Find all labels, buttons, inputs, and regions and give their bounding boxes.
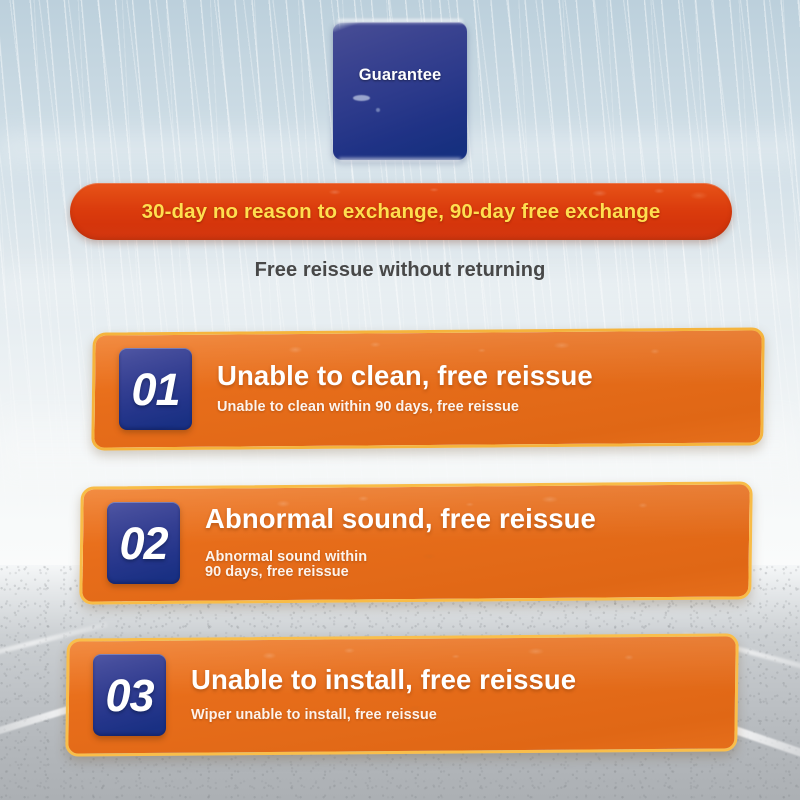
policy-banner: 30-day no reason to exchange, 90-day fre… xyxy=(70,183,732,240)
card-subtitle: Unable to clean within 90 days, free rei… xyxy=(217,400,593,415)
card-text-block: Abnormal sound, free reissue Abnormal so… xyxy=(205,505,616,581)
card-text-block: Unable to clean, free reissue Unable to … xyxy=(217,362,613,415)
card-subtitle: Wiper unable to install, free reissue xyxy=(191,708,576,723)
card-content: 02 Abnormal sound, free reissue Abnormal… xyxy=(83,487,749,599)
card-content: 03 Unable to install, free reissue Wiper… xyxy=(69,639,735,751)
card-number-badge: 03 xyxy=(93,654,166,736)
policy-banner-text: 30-day no reason to exchange, 90-day fre… xyxy=(142,200,661,224)
guarantee-box: Guarantee xyxy=(333,22,467,160)
card-number: 01 xyxy=(131,367,179,412)
guarantee-label: Guarantee xyxy=(333,66,467,85)
card-text-block: Unable to install, free reissue Wiper un… xyxy=(191,666,596,723)
card-title: Unable to install, free reissue xyxy=(191,666,576,695)
water-droplet-icon xyxy=(353,95,370,101)
water-droplet-icon xyxy=(376,108,380,112)
card-subtitle: Abnormal sound within 90 days, free reis… xyxy=(205,550,596,581)
promo-stage: Guarantee 30-day no reason to exchange, … xyxy=(0,0,800,800)
benefit-card: 02 Abnormal sound, free reissue Abnormal… xyxy=(79,481,753,604)
subhead-text: Free reissue without returning xyxy=(0,259,800,282)
card-content: 01 Unable to clean, free reissue Unable … xyxy=(95,333,761,445)
benefit-card: 03 Unable to install, free reissue Wiper… xyxy=(65,633,739,756)
card-number: 03 xyxy=(105,673,153,718)
card-title: Abnormal sound, free reissue xyxy=(205,505,596,534)
card-number-badge: 02 xyxy=(107,502,180,584)
benefit-card: 01 Unable to clean, free reissue Unable … xyxy=(91,327,765,450)
card-title: Unable to clean, free reissue xyxy=(217,362,593,391)
card-number: 02 xyxy=(119,521,167,566)
card-number-badge: 01 xyxy=(119,348,192,430)
